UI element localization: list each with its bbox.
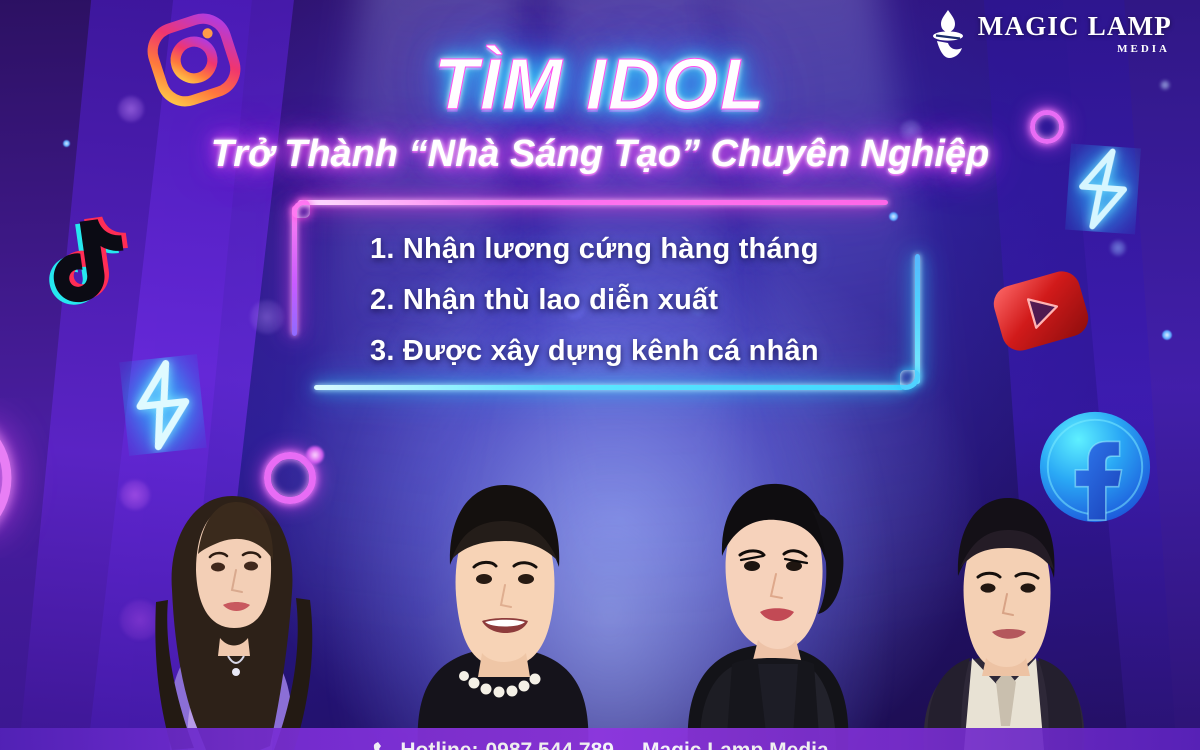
neon-frame-top bbox=[298, 200, 888, 205]
brand-chip: Magic Lamp Media bbox=[642, 739, 829, 750]
bokeh-dot bbox=[250, 300, 284, 334]
benefits-list: 1. Nhận lương cứng hàng tháng 2. Nhận th… bbox=[370, 233, 819, 368]
contact-bar: Hotline: 0987 544 789 Magic Lamp Media bbox=[0, 728, 1200, 750]
neon-ring-small bbox=[1030, 110, 1064, 144]
poster-canvas: MAGIC LAMP MEDIA TÌM IDOL Trở Thành “Nhà… bbox=[0, 0, 1200, 750]
phone-icon bbox=[371, 742, 393, 750]
soft-glow-dot bbox=[63, 140, 70, 147]
hotline-chip: Hotline: 0987 544 789 bbox=[371, 739, 614, 750]
soft-glow-dot bbox=[306, 446, 324, 464]
brand-mention: Magic Lamp Media bbox=[642, 739, 829, 750]
brand-name: MAGIC LAMP bbox=[978, 13, 1172, 40]
magic-lamp-flame-icon bbox=[930, 8, 966, 60]
soft-glow-dot bbox=[889, 212, 898, 221]
benefit-item-3: 3. Được xây dựng kênh cá nhân bbox=[370, 335, 819, 368]
facebook-icon bbox=[1036, 408, 1154, 526]
tiktok-icon bbox=[36, 206, 145, 316]
contact-bar-row: Hotline: 0987 544 789 Magic Lamp Media bbox=[0, 739, 1200, 750]
neon-frame-right bbox=[915, 254, 920, 384]
lightning-bolt-icon-left bbox=[119, 354, 206, 456]
model-male-smiling bbox=[378, 455, 628, 750]
brand-subtitle: MEDIA bbox=[1117, 44, 1170, 55]
benefit-item-2: 2. Nhận thù lao diễn xuất bbox=[370, 284, 819, 317]
model-female-ponytail bbox=[640, 450, 890, 750]
neon-frame-corner-topleft bbox=[292, 200, 310, 218]
benefit-item-1: 1. Nhận lương cứng hàng tháng bbox=[370, 233, 819, 266]
hotline-label: Hotline: bbox=[400, 739, 478, 750]
neon-frame-corner-bottomright bbox=[900, 370, 920, 390]
neon-frame-left bbox=[292, 206, 297, 336]
signal-arcs-icon bbox=[0, 398, 86, 558]
soft-glow-dot bbox=[1162, 330, 1172, 340]
model-row bbox=[0, 420, 1200, 750]
lightning-bolt-icon-right bbox=[1065, 144, 1141, 235]
bokeh-dot bbox=[1110, 240, 1126, 256]
neon-frame-bottom bbox=[314, 385, 904, 390]
page-subtitle: Trở Thành “Nhà Sáng Tạo” Chuyên Nghiệp bbox=[0, 133, 1200, 176]
brand-logo: MAGIC LAMP MEDIA bbox=[930, 8, 1172, 60]
hotline-number: 0987 544 789 bbox=[485, 739, 613, 750]
